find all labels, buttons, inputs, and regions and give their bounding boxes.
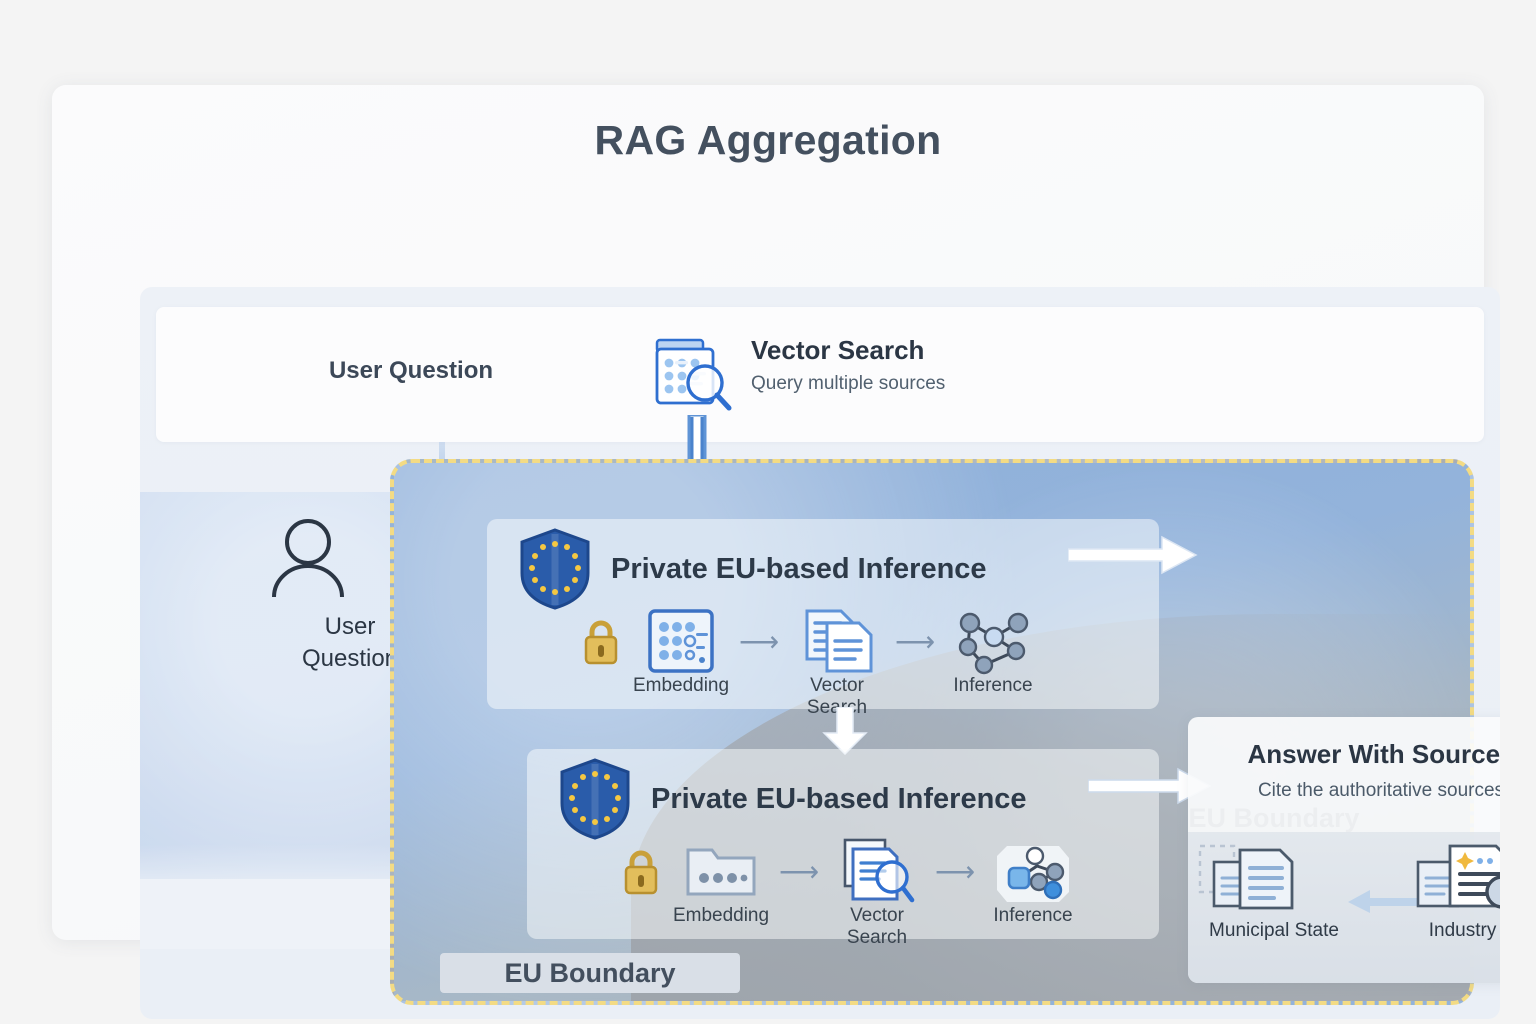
document-search-icon bbox=[823, 837, 931, 905]
pipeline-step-label: Embedding bbox=[633, 675, 729, 696]
pipeline-step-label: Vector Search bbox=[847, 905, 907, 948]
embedding-grid-icon bbox=[627, 607, 735, 675]
pipeline-arrow-1: ⟶ bbox=[739, 607, 779, 675]
answer-panel-sources: Municipal State bbox=[1188, 832, 1500, 983]
pipeline-step-inference: Inference bbox=[939, 607, 1047, 697]
diagram-card: RAG Aggregation User Question bbox=[52, 85, 1484, 940]
eu-shield-icon bbox=[517, 527, 593, 611]
vector-search-title: Vector Search bbox=[751, 335, 945, 366]
pipeline-step-label: Embedding bbox=[673, 905, 769, 926]
header-vector-search: Vector Search Query multiple sources bbox=[651, 335, 945, 417]
vector-search-icon bbox=[651, 335, 735, 417]
inference-panel-title: Private EU-based Inference bbox=[611, 553, 987, 586]
arrow-inference1-to-answer bbox=[1068, 535, 1198, 575]
page-title: RAG Aggregation bbox=[52, 117, 1484, 164]
source-label: Municipal State bbox=[1194, 920, 1354, 942]
padlock-icon bbox=[579, 607, 623, 675]
network-graph-icon bbox=[979, 837, 1087, 905]
vector-search-subtitle: Query multiple sources bbox=[751, 373, 945, 395]
inference-pipeline: Embedding ⟶ bbox=[527, 837, 1159, 949]
diagram-canvas: User Question bbox=[140, 287, 1500, 1019]
pipeline-step-embedding: Embedding bbox=[627, 607, 735, 697]
pipeline-step-label: Inference bbox=[953, 675, 1032, 696]
source-industry-portal: Industry Portal bbox=[1410, 840, 1500, 942]
inference-panel-title: Private EU-based Inference bbox=[651, 783, 1027, 816]
document-search-plus-icon bbox=[1410, 840, 1500, 918]
padlock-icon bbox=[619, 837, 663, 905]
network-graph-icon bbox=[939, 607, 1047, 675]
source-label: Industry Portal bbox=[1410, 920, 1500, 942]
header-strip: User Question bbox=[156, 307, 1484, 442]
answer-panel-title: Answer With Sources bbox=[1198, 739, 1500, 770]
answer-with-sources-panel: Answer With Sources Cite the authoritati… bbox=[1188, 717, 1500, 983]
arrow-inference1-to-inference2 bbox=[822, 707, 868, 755]
pipeline-step-vector-search: Vector Search bbox=[783, 607, 891, 719]
pipeline-step-inference: Inference bbox=[979, 837, 1087, 927]
inference-panel-primary: Private EU-based Inference bbox=[487, 519, 1159, 709]
eu-shield-icon bbox=[557, 757, 633, 841]
header-user-question-label: User Question bbox=[266, 357, 556, 385]
pipeline-step-label: Inference bbox=[993, 905, 1072, 926]
pipeline-step-embedding: Embedding bbox=[667, 837, 775, 927]
pipeline-arrow-2: ⟶ bbox=[935, 837, 975, 905]
inference-pipeline: Embedding ⟶ bbox=[487, 607, 1159, 719]
pipeline-arrow-1: ⟶ bbox=[779, 837, 819, 905]
inference-panel-header: Private EU-based Inference bbox=[487, 519, 1159, 611]
inference-panel-secondary: Private EU-based Inference bbox=[527, 749, 1159, 939]
embedding-card-icon bbox=[667, 837, 775, 905]
pipeline-arrow-2: ⟶ bbox=[895, 607, 935, 675]
pipeline-step-vector-search: Vector Search bbox=[823, 837, 931, 949]
answer-panel-subtitle: Cite the authoritative sources bbox=[1198, 780, 1500, 802]
answer-panel-header: Answer With Sources Cite the authoritati… bbox=[1188, 717, 1500, 802]
eu-boundary-label-bottom: EU Boundary bbox=[440, 953, 740, 993]
documents-icon bbox=[783, 607, 891, 675]
documents-stack-icon bbox=[1194, 840, 1354, 918]
inference-panel-header: Private EU-based Inference bbox=[527, 749, 1159, 841]
source-municipal-state: Municipal State bbox=[1194, 840, 1354, 942]
